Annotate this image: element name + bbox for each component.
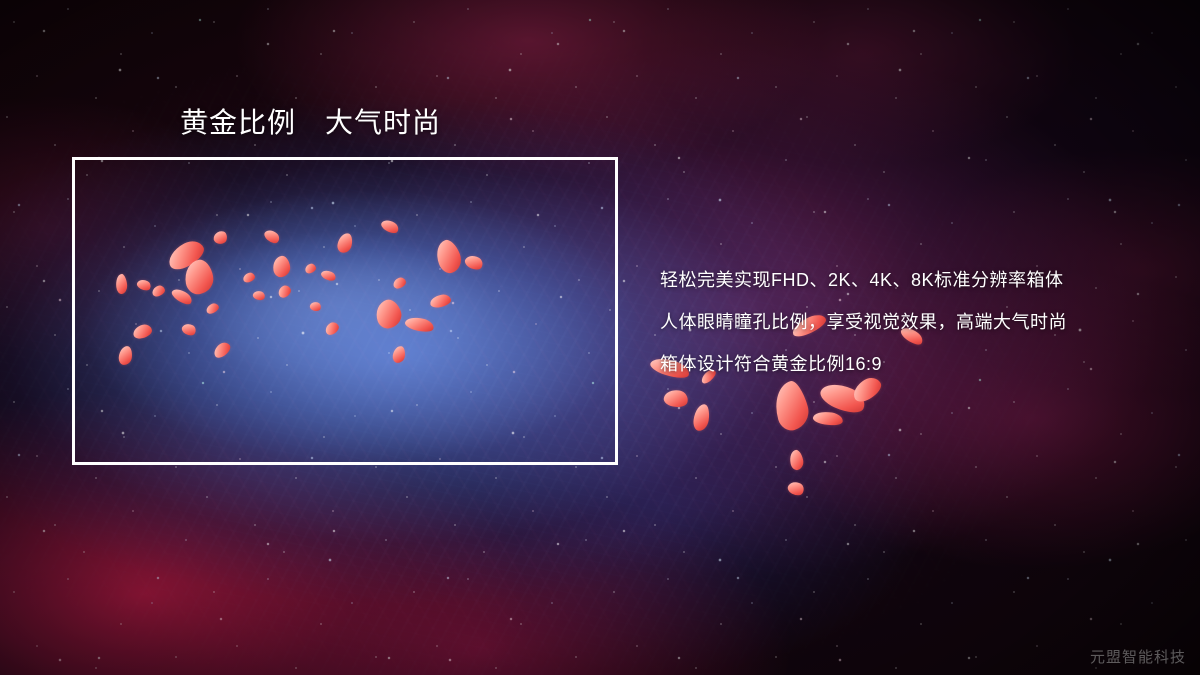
frame-nebula-wisps <box>72 157 618 465</box>
petal <box>432 237 465 276</box>
frame-vignette-overlay <box>72 157 618 465</box>
petal <box>205 302 221 316</box>
frame-nebula-background <box>72 157 618 465</box>
petal <box>320 268 337 282</box>
petal <box>463 253 485 273</box>
petal <box>136 277 153 292</box>
petal <box>151 284 167 298</box>
petal <box>262 227 281 246</box>
body-line-2: 人体眼睛瞳孔比例，享受视觉效果，高端大气时尚 <box>660 301 1067 343</box>
slide-canvas: 黄金比例 大气时尚 轻松完美实现FHD、2K、4K、8K标准分辨率箱体 人体眼睛… <box>0 0 1200 675</box>
petal <box>769 379 813 434</box>
petal <box>323 320 341 337</box>
petal <box>379 217 400 236</box>
petal <box>786 479 806 498</box>
petal <box>392 276 408 290</box>
petal <box>211 340 233 360</box>
body-copy: 轻松完美实现FHD、2K、4K、8K标准分辨率箱体 人体眼睛瞳孔比例，享受视觉效… <box>660 259 1067 385</box>
petal <box>180 321 198 338</box>
petal <box>812 410 844 428</box>
petal <box>213 230 229 246</box>
petal <box>372 297 404 331</box>
petal <box>662 388 689 410</box>
petal <box>309 301 322 313</box>
watermark: 元盟智能科技 <box>1090 646 1186 667</box>
frame-starfield-large-icon <box>72 157 618 465</box>
petal <box>336 232 354 254</box>
petal <box>429 293 452 308</box>
petal <box>276 283 293 299</box>
petal <box>788 449 805 471</box>
petal <box>304 263 317 275</box>
petal <box>392 345 406 364</box>
petal <box>242 272 256 284</box>
frame-starfield-small-icon <box>72 157 618 465</box>
body-line-1: 轻松完美实现FHD、2K、4K、8K标准分辨率箱体 <box>660 259 1067 301</box>
petal <box>118 345 133 365</box>
page-title: 黄金比例 大气时尚 <box>180 101 441 141</box>
petal <box>115 273 128 294</box>
petal <box>132 323 154 340</box>
petal <box>404 315 435 335</box>
frame-starfield-medium-icon <box>72 157 618 465</box>
petal <box>272 255 292 278</box>
petal <box>692 403 711 432</box>
body-line-3: 箱体设计符合黄金比例16:9 <box>660 343 1067 385</box>
image-frame <box>72 157 618 465</box>
petal <box>252 289 266 302</box>
